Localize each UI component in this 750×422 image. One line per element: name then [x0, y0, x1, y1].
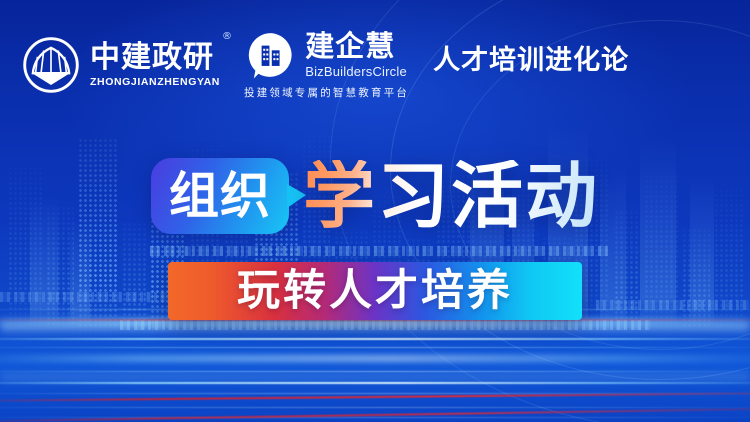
logo-bizbuilderscircle[interactable]: 建企慧 BizBuildersCircle 投建领域专属的智慧教育平台	[244, 24, 409, 100]
glow-band	[0, 318, 750, 334]
logo-name-cn: 中建政研®	[90, 42, 220, 74]
building-circle-icon	[246, 30, 296, 80]
skyline-building	[122, 222, 146, 334]
light-streak	[0, 371, 750, 372]
glow-band	[0, 372, 750, 382]
main-headline: 组织 学习活动	[0, 158, 750, 234]
sub-banner-text: 玩转人才培养	[237, 270, 513, 313]
logo-name-cn: 建企慧	[305, 31, 407, 61]
data-noise-strip	[596, 300, 750, 310]
light-streak	[0, 355, 750, 362]
data-noise-strip	[120, 320, 650, 330]
data-noise-strip	[150, 246, 610, 256]
light-streak	[0, 393, 750, 394]
light-streak	[0, 347, 750, 348]
logo-wordmark: 中建政研® ZHONGJIANZHENGYAN	[90, 42, 220, 89]
headline-badge-text: 组织	[169, 171, 271, 221]
red-accent-line	[0, 392, 750, 402]
headline-badge: 组织	[151, 158, 289, 234]
logo-zhongjianzhengyan[interactable]: 中建政研® ZHONGJIANZHENGYAN	[22, 24, 220, 94]
headline-main-text: 学习活动	[303, 160, 599, 232]
light-streak	[0, 407, 750, 408]
registered-mark-icon: ®	[222, 32, 233, 43]
red-accent-line	[0, 407, 750, 422]
logo-tagline: 投建领域专属的智慧教育平台	[244, 85, 409, 100]
logo-pinyin: ZHONGJIANZHENGYAN	[90, 76, 220, 88]
light-streak	[0, 338, 750, 340]
bridge-arch-icon	[22, 36, 80, 94]
sub-banner: 玩转人才培养	[168, 262, 582, 320]
logo-name-en: BizBuildersCircle	[305, 64, 407, 79]
logo-row: 建企慧 BizBuildersCircle	[246, 30, 407, 80]
header-slogan: 人才培训进化论	[433, 24, 629, 77]
header-logos: 中建政研® ZHONGJIANZHENGYAN	[22, 24, 629, 100]
tower-band	[70, 218, 90, 326]
light-streak	[0, 417, 750, 418]
data-noise-strip	[0, 292, 190, 302]
skyline-building	[682, 228, 710, 334]
light-streak	[0, 382, 750, 384]
logo-wordmark: 建企慧 BizBuildersCircle	[305, 31, 407, 78]
promotional-banner: 中建政研® ZHONGJIANZHENGYAN	[0, 0, 750, 422]
light-streak	[0, 319, 750, 326]
